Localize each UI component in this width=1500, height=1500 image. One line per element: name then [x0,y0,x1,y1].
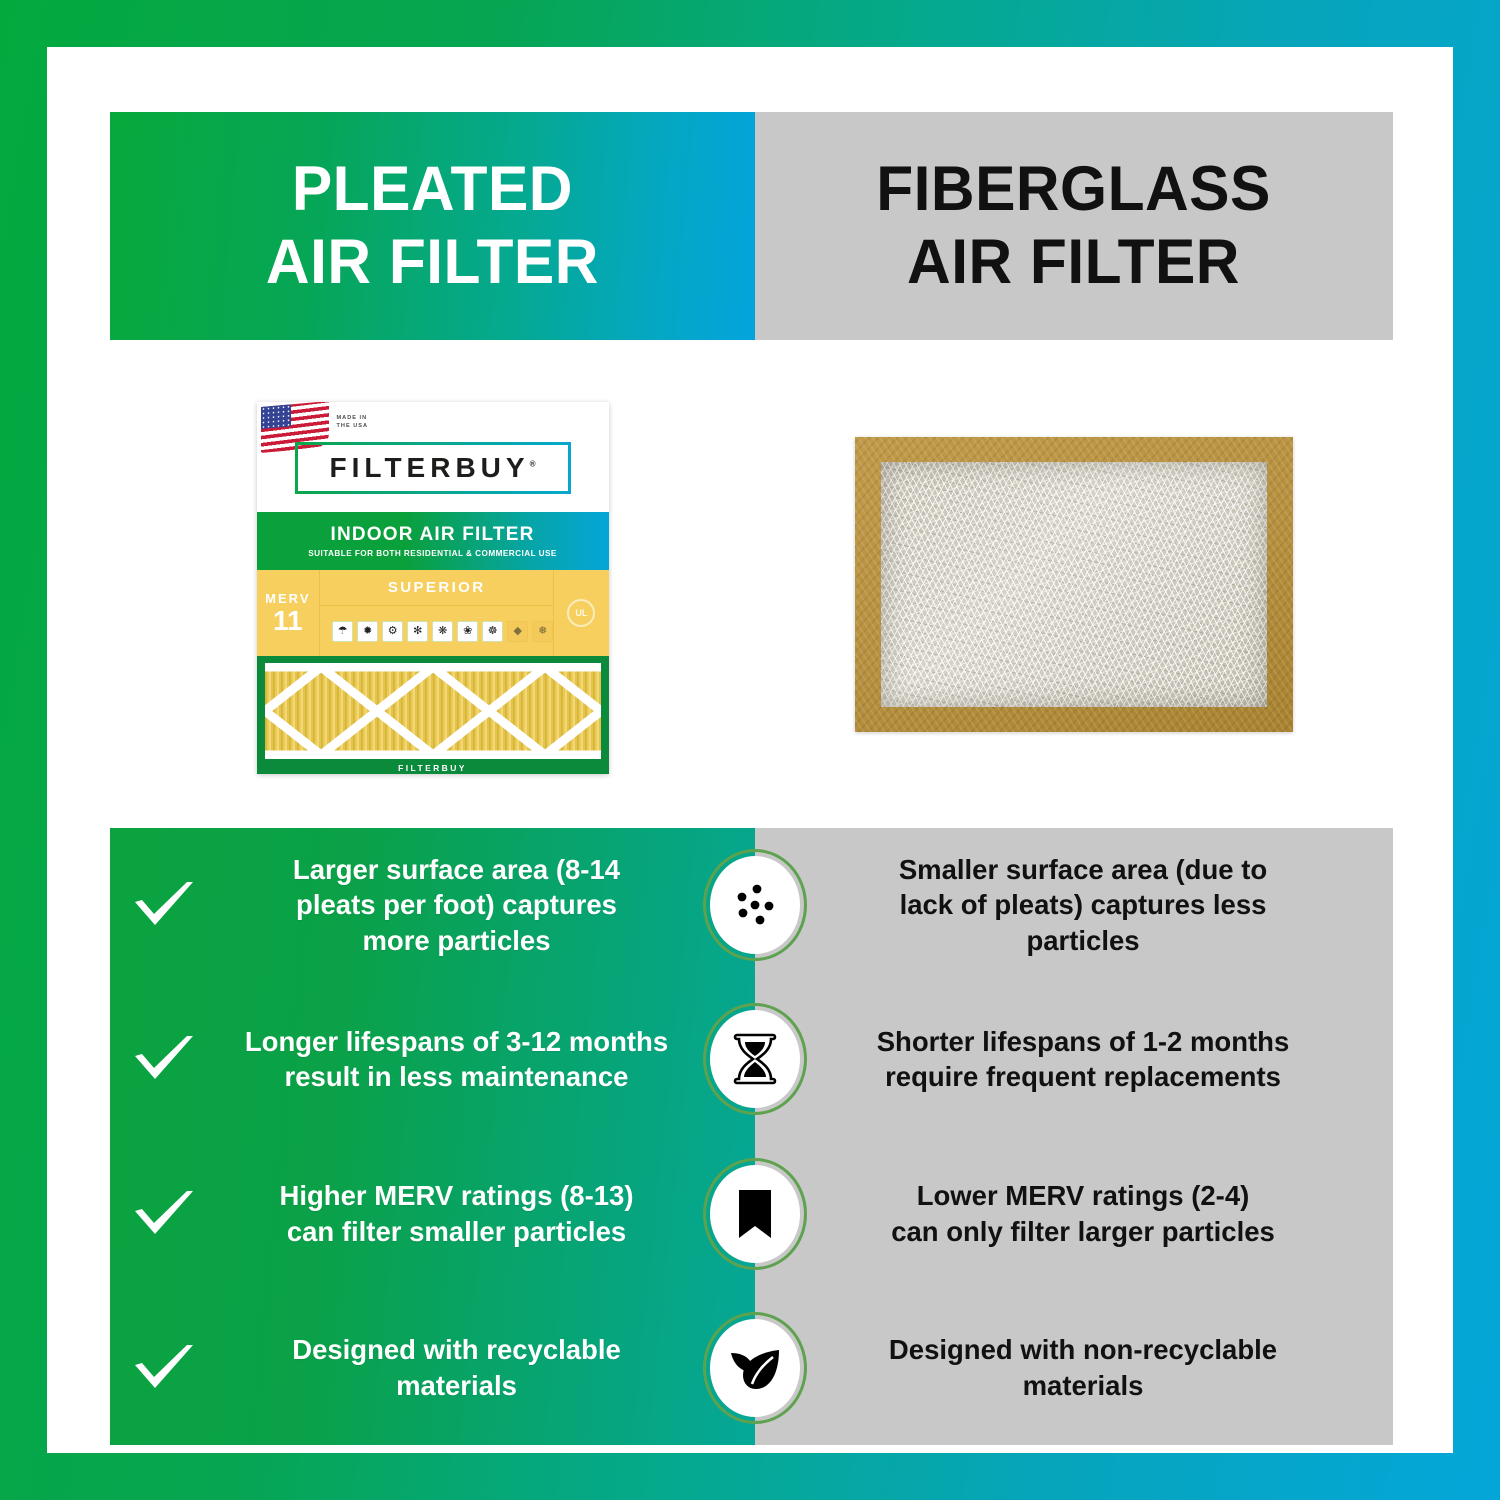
feature-icon-row: ☂ ✹ ⚙ ✻ ❋ ❀ ☸ ◆ ❅ [320,606,553,656]
gear-icon: ⚙ [382,621,403,642]
checkmark-icon [110,1343,218,1393]
comparison-right-text: Shorter lifespans of 1-2 months require … [755,1024,1393,1096]
pollen-icon: ✻ [407,621,428,642]
package-banner: INDOOR AIR FILTER SUITABLE FOR BOTH RESI… [257,512,609,570]
pleated-filter-package: MADE IN THE USA FILTERBUY® INDOOR AIR FI… [257,402,609,774]
hourglass-icon [703,1003,807,1115]
brand-logo-box: FILTERBUY® [295,442,571,494]
bookmark-icon [703,1158,807,1270]
hourglass-glyph [726,1030,784,1088]
comparison-row: Designed with recyclable materials Desig… [110,1291,1393,1445]
banner-title: INDOOR AIR FILTER [330,524,534,546]
comparison-panel: Larger surface area (8-14 pleats per foo… [110,828,1393,1445]
tier-label: SUPERIOR [320,570,553,606]
smoke-icon-disabled: ◆ [507,621,528,642]
checkmark-icon [110,1189,218,1239]
header-band: PLEATED AIR FILTER FIBERGLASS AIR FILTER [110,112,1393,340]
leaf-icon [703,1312,807,1424]
package-top-band: MADE IN THE USA FILTERBUY® [257,402,609,512]
bacteria-icon: ☸ [482,621,503,642]
header-pleated-title: PLEATED AIR FILTER [266,153,599,299]
comparison-left-text: Longer lifespans of 3-12 months result i… [218,1024,755,1096]
product-showcase-row: MADE IN THE USA FILTERBUY® INDOOR AIR FI… [110,340,1393,828]
comparison-row: Higher MERV ratings (8-13) can filter sm… [110,1137,1393,1291]
wire-support-grid [265,663,601,759]
header-fiberglass-title: FIBERGLASS AIR FILTER [877,153,1272,299]
merv-label: MERV [265,591,310,606]
fiberglass-mesh-texture [881,462,1267,707]
gradient-border-frame: PLEATED AIR FILTER FIBERGLASS AIR FILTER… [0,0,1500,1500]
checkmark-icon [110,880,218,930]
virus-icon-disabled: ❅ [532,621,553,642]
comparison-rows: Larger surface area (8-14 pleats per foo… [110,828,1393,1445]
particles-glyph [726,876,784,934]
leaf-glyph [726,1339,784,1397]
comparison-right-text: Designed with non-recyclable materials [755,1332,1393,1404]
pleated-product-cell: MADE IN THE USA FILTERBUY® INDOOR AIR FI… [110,340,755,828]
comparison-row: Longer lifespans of 3-12 months result i… [110,982,1393,1136]
made-in-usa-label: MADE IN THE USA [337,414,369,431]
ul-seal-icon: UL [567,599,595,627]
comparison-left-text: Larger surface area (8-14 pleats per foo… [218,852,755,959]
merv-badge: MERV 11 [257,570,321,656]
bookmark-glyph [726,1185,784,1243]
certification-seal: UL [553,570,608,656]
comparison-left-text: Designed with recyclable materials [218,1332,755,1404]
fiberglass-product-cell [755,340,1393,828]
banner-subtitle: SUITABLE FOR BOTH RESIDENTIAL & COMMERCI… [308,549,557,558]
mold-icon: ❋ [432,621,453,642]
checkmark-icon [110,1034,218,1084]
comparison-left-text: Higher MERV ratings (8-13) can filter sm… [218,1178,755,1250]
dust-icon: ☂ [332,621,353,642]
pleated-media-view: FILTERBUY [257,656,609,774]
package-spec-band: MERV 11 SUPERIOR ☂ ✹ ⚙ ✻ ❋ ❀ [257,570,609,656]
brand-name: FILTERBUY® [330,452,536,484]
package-tier-column: SUPERIOR ☂ ✹ ⚙ ✻ ❋ ❀ ☸ ◆ ❅ [320,570,553,656]
comparison-right-text: Lower MERV ratings (2-4) can only filter… [755,1178,1393,1250]
fiberglass-filter-photo [855,437,1293,732]
comparison-right-text: Smaller surface area (due to lack of ple… [755,852,1393,959]
particles-icon [703,849,807,961]
package-footer-brand: FILTERBUY [257,763,609,773]
header-pleated: PLEATED AIR FILTER [110,112,755,340]
insect-icon: ✹ [357,621,378,642]
comparison-row: Larger surface area (8-14 pleats per foo… [110,828,1393,982]
pet-dander-icon: ❀ [457,621,478,642]
infographic-canvas: PLEATED AIR FILTER FIBERGLASS AIR FILTER… [47,47,1453,1453]
header-fiberglass: FIBERGLASS AIR FILTER [755,112,1393,340]
merv-value: 11 [273,607,303,635]
